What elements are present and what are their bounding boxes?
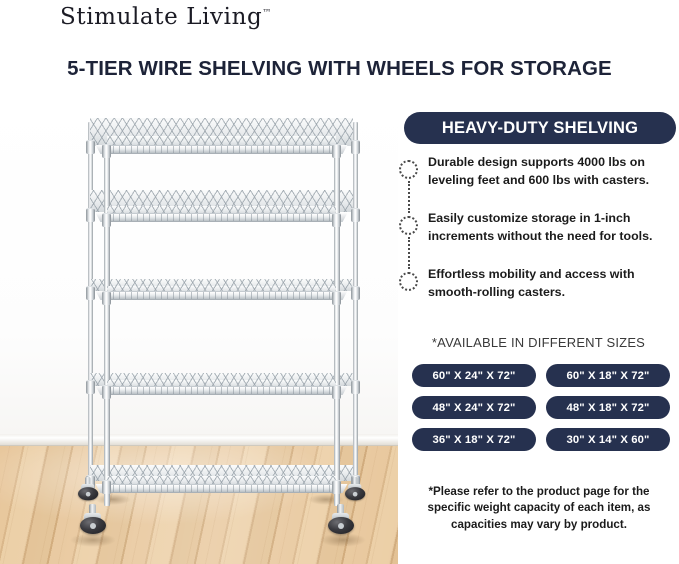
brand-name: Stimulate Living <box>60 4 262 30</box>
shelf-collar <box>86 286 95 300</box>
shelf-collar <box>351 380 360 394</box>
caster-shadow <box>320 533 366 547</box>
size-option[interactable]: 60" X 18" X 72" <box>546 364 670 387</box>
shelf-collar <box>86 208 95 222</box>
page-title: 5-TIER WIRE SHELVING WITH WHEELS FOR STO… <box>0 57 679 81</box>
shelf-collar <box>332 385 341 399</box>
caster-hub <box>86 492 91 497</box>
info-panel: HEAVY-DUTY SHELVING Durable design suppo… <box>398 96 679 564</box>
size-option[interactable]: 48" X 24" X 72" <box>412 396 536 419</box>
size-option[interactable]: 36" X 18" X 72" <box>412 428 536 451</box>
shelf-front-edge <box>107 213 336 222</box>
feature-item: Effortless mobility and access with smoo… <box>398 266 679 322</box>
shelf-collar <box>332 291 341 305</box>
shelf-post-back-right <box>353 122 358 500</box>
shelf-collar <box>332 213 341 227</box>
caster-hub <box>90 523 96 529</box>
caster-hub <box>353 492 358 497</box>
shelf-post-front-right <box>334 144 340 506</box>
shelf-collar <box>351 208 360 222</box>
shelf-face-tier-3 <box>107 286 336 292</box>
shelf-collar <box>102 480 111 494</box>
product-photo <box>0 96 398 564</box>
shelf-front-edge <box>107 386 336 395</box>
caster-front-right <box>328 504 354 534</box>
size-option[interactable]: 60" X 24" X 72" <box>412 364 536 387</box>
dotted-circle-icon <box>399 160 418 179</box>
caster-front-left <box>80 504 106 534</box>
heavy-duty-badge: HEAVY-DUTY SHELVING <box>404 112 676 144</box>
capacity-disclaimer: *Please refer to the product page for th… <box>410 484 668 533</box>
dotted-connector-line <box>408 181 410 213</box>
shelf-front-edge <box>107 484 336 493</box>
dotted-circle-icon <box>399 272 418 291</box>
heavy-duty-badge-label: HEAVY-DUTY SHELVING <box>442 119 638 138</box>
feature-text: Durable design supports 4000 lbs on leve… <box>428 154 679 190</box>
size-option[interactable]: 48" X 18" X 72" <box>546 396 670 419</box>
feature-item: Durable design supports 4000 lbs on leve… <box>398 154 679 210</box>
shelf-collar <box>102 291 111 305</box>
feature-list: Durable design supports 4000 lbs on leve… <box>398 154 679 322</box>
caster-back-right <box>345 477 365 500</box>
feature-text: Easily customize storage in 1-inch incre… <box>428 210 679 246</box>
shelf-face-tier-1 <box>107 136 336 146</box>
shelf-front-edge <box>107 145 336 154</box>
caster-back-left <box>78 477 98 500</box>
shelf-front-edge <box>107 291 336 300</box>
size-option[interactable]: 30" X 14" X 60" <box>546 428 670 451</box>
shelf-collar <box>102 144 111 158</box>
shelf-collar <box>86 140 95 154</box>
shelf-face-tier-2 <box>107 206 336 214</box>
dotted-connector-line <box>408 237 410 269</box>
brand-logo: Stimulate Living™ <box>60 4 271 30</box>
feature-item: Easily customize storage in 1-inch incre… <box>398 210 679 266</box>
shelf-collar <box>351 286 360 300</box>
shelf-collar <box>351 140 360 154</box>
shelf-collar <box>332 480 341 494</box>
product-marketing-image: Stimulate Living™ 5-TIER WIRE SHELVING W… <box>0 0 679 564</box>
shelf-collar <box>102 213 111 227</box>
shelf-collar <box>332 144 341 158</box>
trademark-symbol: ™ <box>262 8 271 18</box>
shelf-face-tier-4 <box>107 380 336 387</box>
shelf-post-back-left <box>88 122 93 500</box>
dotted-circle-icon <box>399 216 418 235</box>
wire-shelving-unit <box>0 96 398 564</box>
available-sizes-heading: *AVAILABLE IN DIFFERENT SIZES <box>398 335 679 350</box>
shelf-post-front-left <box>104 144 110 506</box>
feature-text: Effortless mobility and access with smoo… <box>428 266 679 302</box>
caster-hub <box>338 523 344 529</box>
shelf-collar <box>102 385 111 399</box>
shelf-collar <box>86 380 95 394</box>
shelf-face-tier-5 <box>107 476 336 485</box>
size-options-grid: 60" X 24" X 72" 60" X 18" X 72" 48" X 24… <box>412 364 670 451</box>
caster-shadow <box>70 533 116 547</box>
